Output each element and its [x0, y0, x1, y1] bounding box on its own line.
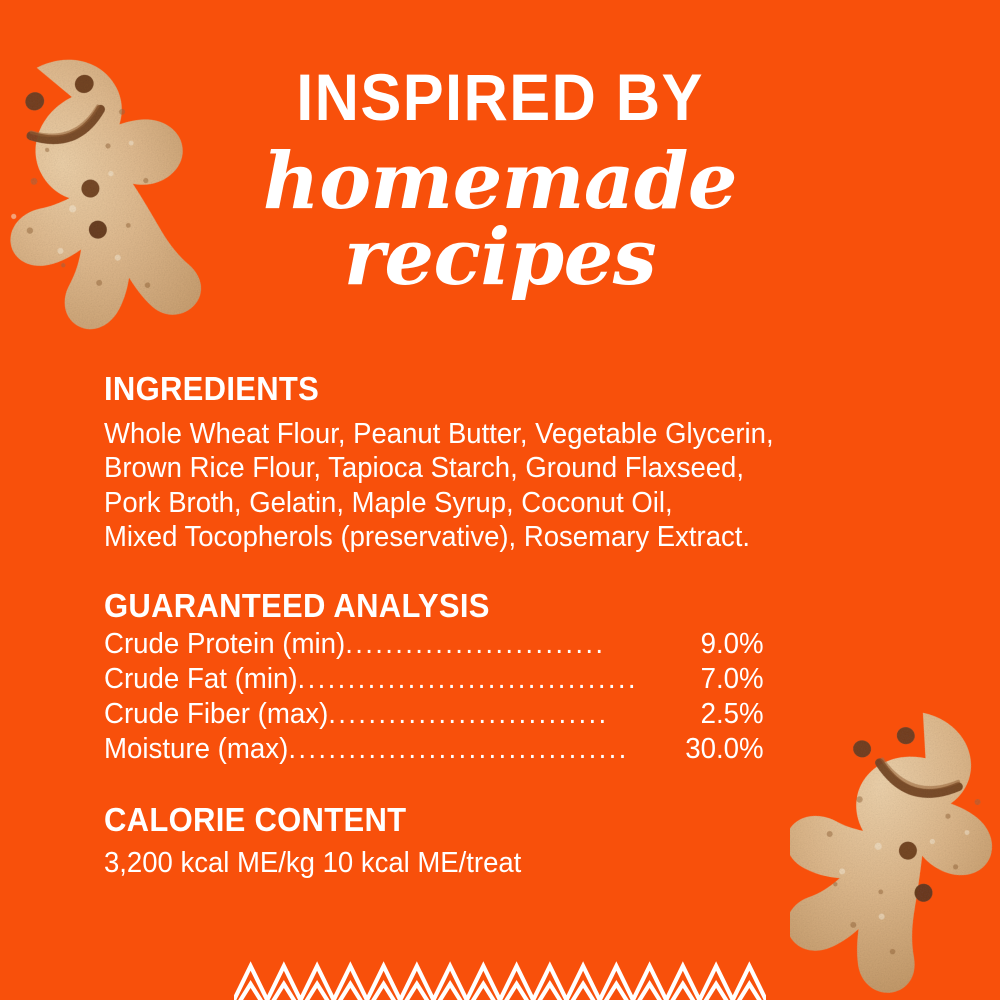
ingredients-body: Whole Wheat Flour, Peanut Butter, Vegeta…	[104, 417, 866, 555]
guaranteed-analysis-rows: Crude Protein (min) ....................…	[104, 627, 894, 767]
analysis-dot-leader: ..................................	[298, 662, 701, 697]
ingredients-section: INGREDIENTS Whole Wheat Flour, Peanut Bu…	[104, 372, 894, 555]
analysis-value: 2.5%	[701, 697, 764, 732]
headline-line-3: recipes	[0, 222, 1000, 294]
analysis-dot-leader: ..................................	[288, 732, 685, 767]
analysis-label: Crude Fat (min)	[104, 662, 298, 697]
analysis-dot-leader: ..........................	[345, 627, 700, 662]
analysis-label: Moisture (max)	[104, 732, 288, 767]
guaranteed-analysis-heading: GUARANTEED ANALYSIS	[104, 589, 847, 624]
analysis-value: 9.0%	[701, 627, 764, 662]
guaranteed-analysis-section: GUARANTEED ANALYSIS Crude Protein (min) …	[104, 589, 894, 768]
headline-line-1: INSPIRED BY	[35, 64, 965, 130]
analysis-row: Crude Protein (min) ....................…	[104, 627, 764, 662]
calorie-content-body: 3,200 kcal ME/kg 10 kcal ME/treat	[104, 846, 866, 881]
analysis-value: 7.0%	[701, 662, 764, 697]
packaging-panel: INSPIRED BY homemade recipes INGREDIENTS…	[0, 0, 1000, 1000]
gingerbread-cookie-bottom-right	[790, 700, 1000, 1000]
calorie-content-section: CALORIE CONTENT 3,200 kcal ME/kg 10 kcal…	[104, 803, 894, 881]
analysis-dot-leader: ............................	[328, 697, 700, 732]
ingredients-heading: INGREDIENTS	[104, 372, 847, 407]
analysis-row: Moisture (max) .........................…	[104, 732, 764, 767]
analysis-row: Crude Fiber (max) ......................…	[104, 697, 764, 732]
headline-block: INSPIRED BY homemade recipes	[0, 64, 1000, 294]
analysis-label: Crude Protein (min)	[104, 627, 345, 662]
analysis-row: Crude Fat (min) ........................…	[104, 662, 764, 697]
analysis-value: 30.0%	[685, 732, 763, 767]
headline-line-2: homemade	[0, 146, 1000, 218]
nutrition-content: INGREDIENTS Whole Wheat Flour, Peanut Bu…	[104, 372, 894, 881]
analysis-label: Crude Fiber (max)	[104, 697, 328, 732]
bottom-chevron-pattern	[234, 958, 766, 1000]
calorie-content-heading: CALORIE CONTENT	[104, 803, 847, 838]
